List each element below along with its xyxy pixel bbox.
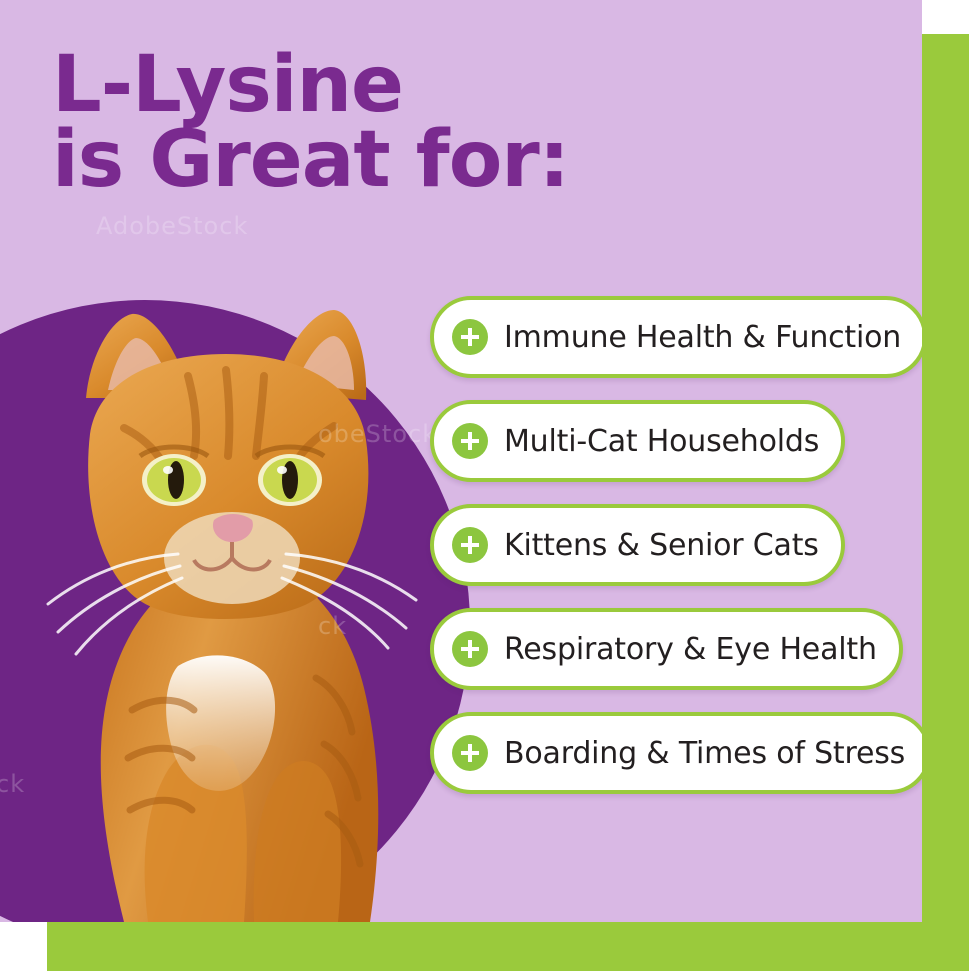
benefit-label: Kittens & Senior Cats xyxy=(504,528,819,563)
plus-icon xyxy=(452,423,488,459)
poster-canvas: AdobeStock obeStock ck ck L-Lysine is Gr… xyxy=(0,0,969,971)
cat-photo xyxy=(28,258,448,922)
plus-icon xyxy=(452,319,488,355)
headline-line-1: L-Lysine xyxy=(52,48,752,123)
benefit-item: Boarding & Times of Stress xyxy=(430,712,922,794)
headline-line-2: is Great for: xyxy=(52,123,752,198)
plus-icon xyxy=(452,735,488,771)
watermark-text: AdobeStock xyxy=(96,212,248,240)
headline: L-Lysine is Great for: xyxy=(52,48,752,198)
plus-icon xyxy=(452,527,488,563)
benefit-item: Respiratory & Eye Health xyxy=(430,608,903,690)
benefit-item: Immune Health & Function xyxy=(430,296,922,378)
benefit-list: Immune Health & Function Multi-Cat House… xyxy=(430,296,900,816)
benefit-item: Kittens & Senior Cats xyxy=(430,504,845,586)
benefit-label: Immune Health & Function xyxy=(504,320,901,355)
benefit-item: Multi-Cat Households xyxy=(430,400,845,482)
plus-icon xyxy=(452,631,488,667)
benefit-label: Multi-Cat Households xyxy=(504,424,819,459)
benefit-label: Respiratory & Eye Health xyxy=(504,632,877,667)
lavender-panel: AdobeStock obeStock ck ck L-Lysine is Gr… xyxy=(0,0,922,922)
benefit-label: Boarding & Times of Stress xyxy=(504,736,905,771)
